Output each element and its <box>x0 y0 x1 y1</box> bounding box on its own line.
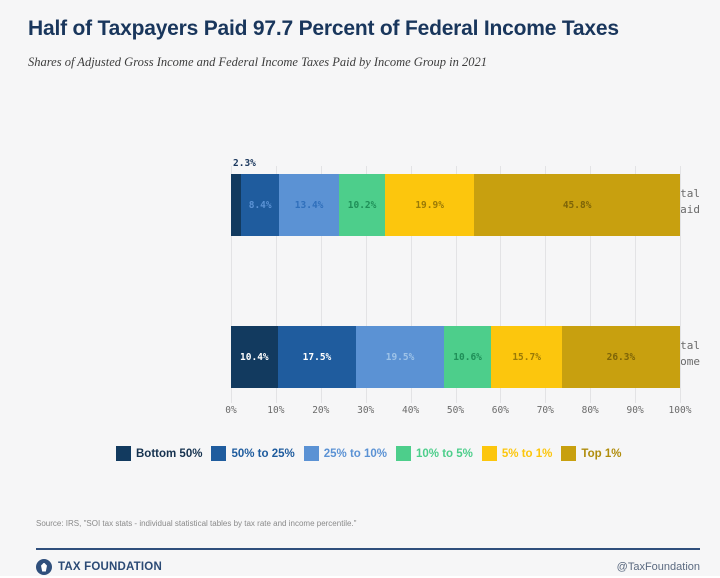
x-axis-tick: 60% <box>492 405 509 416</box>
legend-swatch <box>116 446 131 461</box>
legend-label: 25% to 10% <box>324 448 387 460</box>
legend-label: Top 1% <box>581 448 621 460</box>
legend-item[interactable]: 10% to 5% <box>396 446 473 461</box>
x-axis-tick: 50% <box>447 405 464 416</box>
plot-area: 2.3% 8.4%13.4%10.2%19.9%45.8% 10.4%17.5%… <box>231 166 680 403</box>
bar-segment: 13.4% <box>279 174 339 236</box>
bar-segment <box>231 174 241 236</box>
x-axis-tick: 20% <box>312 405 329 416</box>
bar-segment: 19.9% <box>385 174 474 236</box>
legend-swatch <box>561 446 576 461</box>
segment-label: 19.9% <box>415 200 444 211</box>
social-handle: @TaxFoundation <box>617 561 700 573</box>
shield-icon <box>36 559 52 575</box>
bar-segment: 45.8% <box>474 174 680 236</box>
segment-label: 10.2% <box>348 200 377 211</box>
legend-item[interactable]: 50% to 25% <box>211 446 294 461</box>
x-axis-tick: 40% <box>402 405 419 416</box>
segment-label: 15.7% <box>512 352 541 363</box>
legend-item[interactable]: Bottom 50% <box>116 446 202 461</box>
legend-label: 5% to 1% <box>502 448 553 460</box>
bar-segment: 10.6% <box>444 326 492 388</box>
segment-label: 17.5% <box>303 352 332 363</box>
x-axis: 0%10%20%30%40%50%60%70%80%90%100% <box>231 405 680 423</box>
x-axis-tick: 100% <box>669 405 692 416</box>
legend-label: Bottom 50% <box>136 448 202 460</box>
x-axis-tick: 90% <box>627 405 644 416</box>
legend-swatch <box>211 446 226 461</box>
legend-label: 50% to 25% <box>231 448 294 460</box>
legend-swatch <box>482 446 497 461</box>
x-axis-tick: 70% <box>537 405 554 416</box>
x-axis-tick: 80% <box>582 405 599 416</box>
legend-swatch <box>396 446 411 461</box>
x-axis-tick: 0% <box>225 405 236 416</box>
brand-logo: TAX FOUNDATION <box>36 559 162 575</box>
segment-label: 19.5% <box>386 352 415 363</box>
bar-segment: 26.3% <box>562 326 680 388</box>
stacked-bar-adjusted-gross-income: 10.4%17.5%19.5%10.6%15.7%26.3% <box>231 326 680 388</box>
legend-item[interactable]: 25% to 10% <box>304 446 387 461</box>
legend-item[interactable]: Top 1% <box>561 446 621 461</box>
page-title: Half of Taxpayers Paid 97.7 Percent of F… <box>28 16 688 43</box>
brand-name: TAX FOUNDATION <box>58 561 162 573</box>
chart-canvas: Half of Taxpayers Paid 97.7 Percent of F… <box>8 6 712 568</box>
bar-segment: 17.5% <box>278 326 357 388</box>
legend-label: 10% to 5% <box>416 448 473 460</box>
chart-footer: TAX FOUNDATION @TaxFoundation <box>36 556 700 578</box>
chart-legend: Bottom 50%50% to 25%25% to 10%10% to 5%5… <box>116 446 716 461</box>
x-axis-tick: 10% <box>267 405 284 416</box>
footer-divider <box>36 548 700 550</box>
segment-label: 10.4% <box>240 352 269 363</box>
chart-subtitle: Shares of Adjusted Gross Income and Fede… <box>28 53 688 71</box>
segment-label: 26.3% <box>607 352 636 363</box>
bar-segment: 15.7% <box>491 326 561 388</box>
segment-label: 45.8% <box>563 200 592 211</box>
chart-header: Half of Taxpayers Paid 97.7 Percent of F… <box>28 16 688 71</box>
bar-segment: 10.2% <box>339 174 385 236</box>
legend-item[interactable]: 5% to 1% <box>482 446 553 461</box>
legend-swatch <box>304 446 319 461</box>
segment-label: 13.4% <box>295 200 324 211</box>
segment-label-outside: 2.3% <box>233 158 256 169</box>
bar-segment: 8.4% <box>241 174 279 236</box>
segment-label: 10.6% <box>453 352 482 363</box>
chart-figure: Half of Taxpayers Paid 97.7 Percent of F… <box>0 0 720 576</box>
gridline <box>680 166 681 403</box>
x-axis-tick: 30% <box>357 405 374 416</box>
bar-segment: 10.4% <box>231 326 278 388</box>
segment-label: 8.4% <box>249 200 272 211</box>
stacked-bar-income-taxes-paid: 2.3% 8.4%13.4%10.2%19.9%45.8% <box>231 174 680 236</box>
bar-segment: 19.5% <box>356 326 444 388</box>
source-note: Source: IRS, "SOI tax stats - individual… <box>36 519 357 528</box>
